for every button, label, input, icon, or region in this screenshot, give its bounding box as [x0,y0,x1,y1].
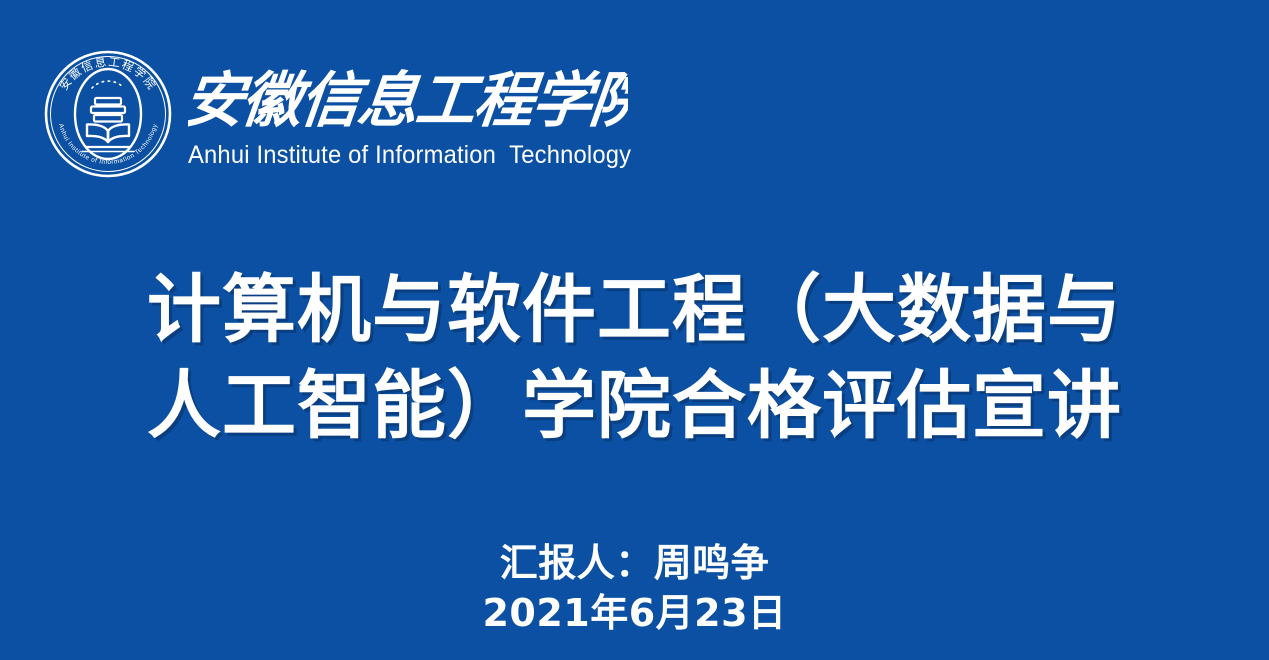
presenter-info: 汇报人：周鸣争 2021年6月23日 [0,538,1269,638]
slide-title-line-1: 计算机与软件工程（大数据与 [80,262,1189,358]
svg-text:安徽信息工程学院: 安徽信息工程学院 [188,66,628,136]
university-wordmark: 安徽信息工程学院 Anhui Institute of Information … [188,59,655,170]
presenter-name: 汇报人：周鸣争 [0,538,1269,588]
svg-text:安徽信息工程学院: 安徽信息工程学院 [56,55,159,93]
university-emblem-icon: 安徽信息工程学院 Anhui Institute of Information … [42,48,174,180]
university-name-en: Anhui Institute of Information Technolog… [188,140,631,170]
presentation-date: 2021年6月23日 [0,588,1269,638]
university-logo-lockup: 安徽信息工程学院 Anhui Institute of Information … [42,48,655,180]
slide-title: 计算机与软件工程（大数据与 人工智能）学院合格评估宣讲 [0,262,1269,454]
presentation-title-slide: 安徽信息工程学院 Anhui Institute of Information … [0,0,1269,660]
slide-title-line-2: 人工智能）学院合格评估宣讲 [80,358,1189,454]
university-name-calligraphy-cn: 安徽信息工程学院 [188,63,628,139]
